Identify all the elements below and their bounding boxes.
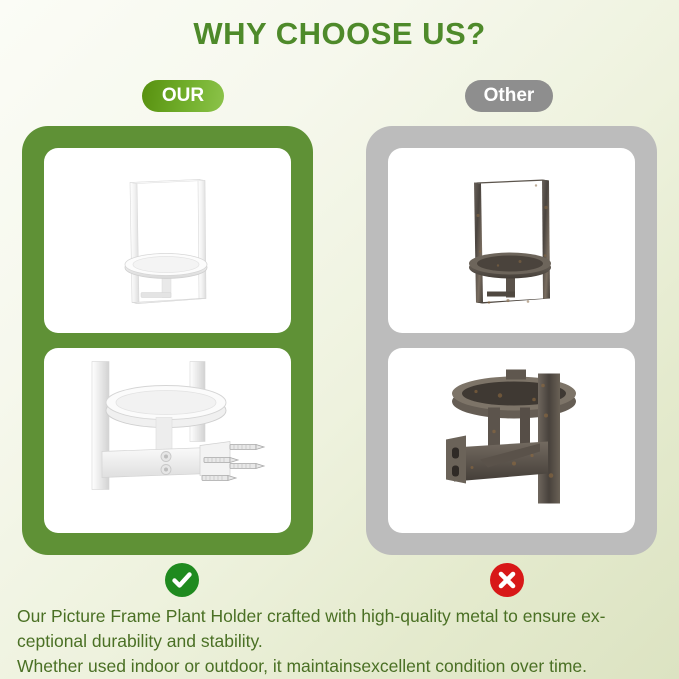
white-bracket-with-screws-image bbox=[44, 348, 291, 533]
rusty-bracket-image bbox=[388, 348, 635, 533]
check-circle-icon bbox=[165, 563, 199, 597]
page-title: WHY CHOOSE US? bbox=[0, 16, 679, 52]
caption-line-3: Whether used indoor or outdoor, it maint… bbox=[17, 654, 665, 679]
image-card-other-frame bbox=[388, 148, 635, 333]
rusty-picture-frame-plant-holder-image bbox=[388, 148, 635, 333]
panel-our bbox=[22, 126, 313, 555]
image-card-our-bracket bbox=[44, 348, 291, 533]
badge-our: OUR bbox=[142, 80, 224, 112]
caption-line-1: Our Picture Frame Plant Holder crafted w… bbox=[17, 604, 665, 629]
check-glyph bbox=[165, 563, 199, 597]
image-card-our-frame bbox=[44, 148, 291, 333]
cross-glyph bbox=[490, 563, 524, 597]
caption-line-2: ceptional durability and stability. bbox=[17, 629, 665, 654]
comparison-infographic: WHY CHOOSE US? OUR Other bbox=[0, 0, 679, 679]
image-card-other-bracket bbox=[388, 348, 635, 533]
panel-other bbox=[366, 126, 657, 555]
x-circle-icon bbox=[490, 563, 524, 597]
white-picture-frame-plant-holder-image bbox=[44, 148, 291, 333]
badge-other: Other bbox=[465, 80, 553, 112]
caption-block: Our Picture Frame Plant Holder crafted w… bbox=[17, 604, 665, 679]
